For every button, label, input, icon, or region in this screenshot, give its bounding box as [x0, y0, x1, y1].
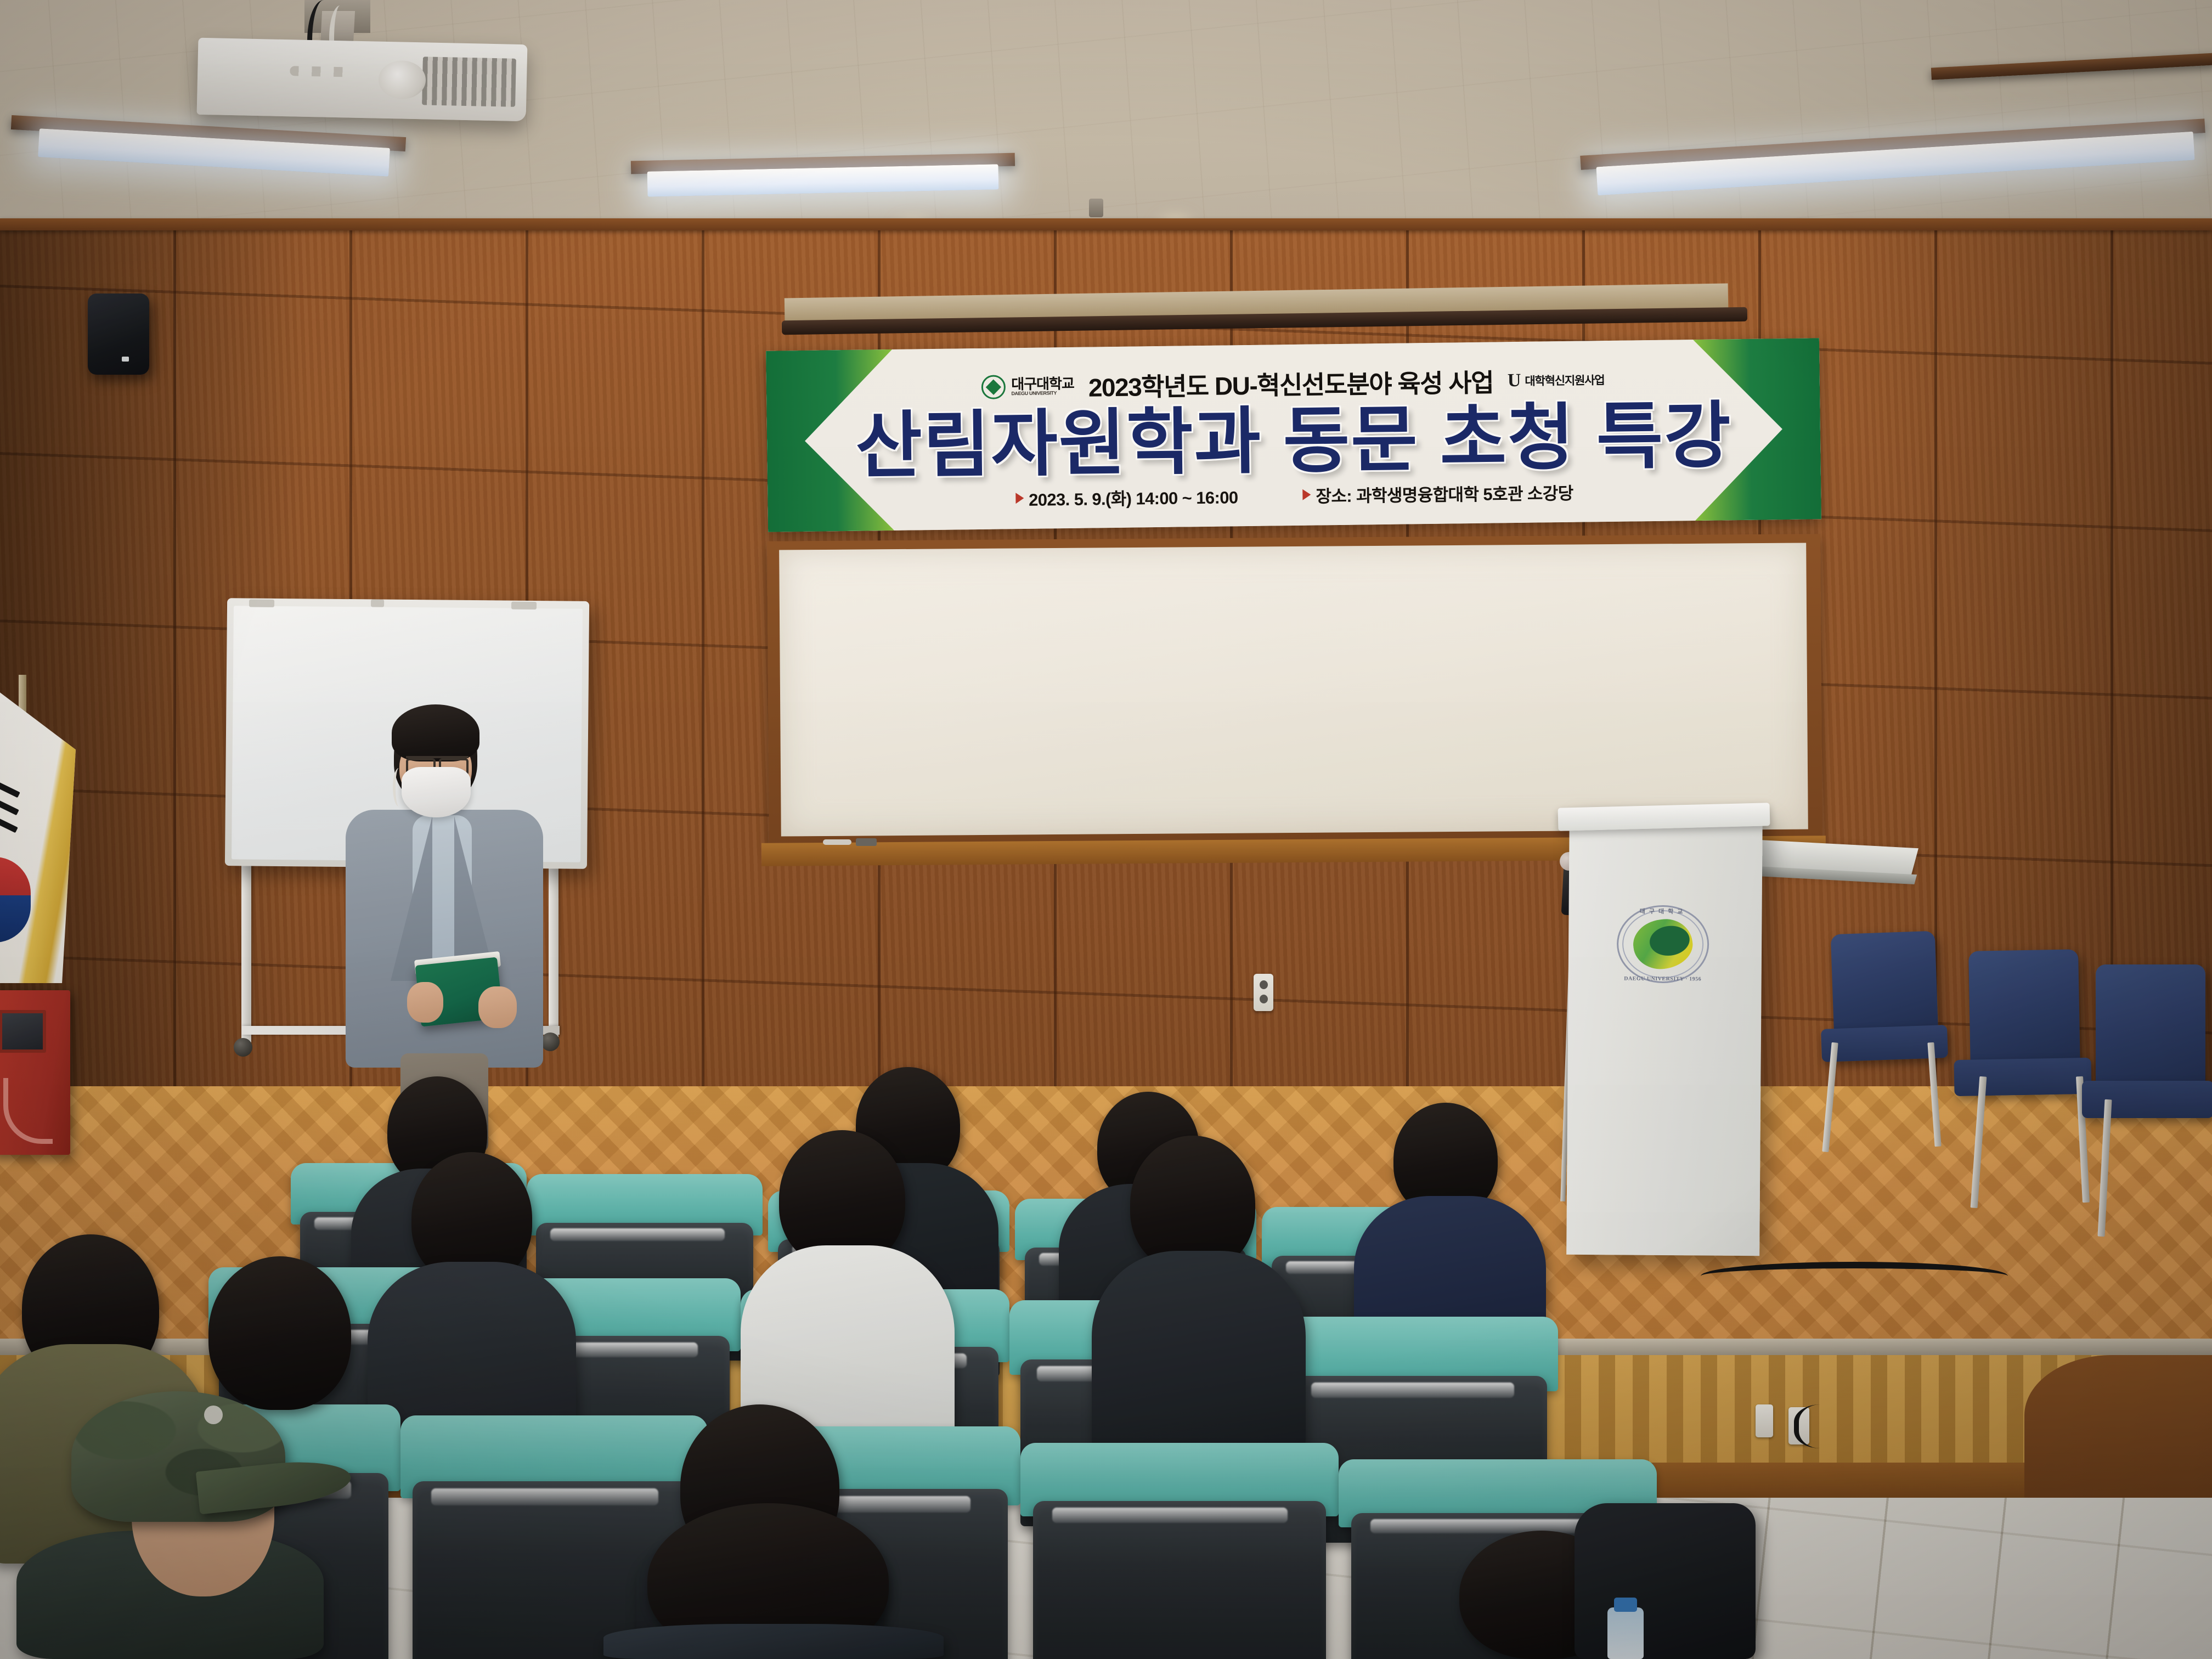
- whiteboard-clip-center: [371, 599, 384, 607]
- seat-gloss-highlight: [431, 1488, 658, 1505]
- wall-upper-trim: [0, 218, 2212, 230]
- banner-subtitle: 2023학년도 DU-혁신선도분야 육성 사업: [1088, 363, 1493, 404]
- pa-speaker-led: [122, 357, 129, 362]
- banner-title: 산림자원학과 동문 초청 특강: [855, 399, 1733, 483]
- whiteboard-caster-left: [234, 1038, 252, 1057]
- seat-gloss-highlight: [1052, 1508, 1288, 1523]
- stacking-chair-back-1[interactable]: [1831, 931, 1939, 1039]
- university-innovation-support-logo: U 대학혁신지원사업: [1508, 371, 1605, 389]
- stage-floor-cable: [1701, 1262, 2008, 1290]
- stacking-chair-seat-2[interactable]: [1954, 1058, 2091, 1096]
- banner-datetime: 2023. 5. 9.(화) 14:00 ~ 16:00: [1029, 483, 1238, 511]
- du-logo-korean: 대구대학교: [1011, 376, 1074, 391]
- uis-logo-mark-icon: U: [1508, 373, 1521, 388]
- pa-speaker: [88, 294, 149, 375]
- banner-datetime-item: 2023. 5. 9.(화) 14:00 ~ 16:00: [1015, 483, 1238, 511]
- seat-row-c-4[interactable]: [1020, 1443, 1339, 1659]
- emblem-korean-text: 대구대학교: [1617, 906, 1709, 916]
- presenter-hair: [392, 704, 479, 761]
- daegu-university-logo-text: 대구대학교 DAEGU UNIVERSITY: [1011, 376, 1074, 396]
- stacking-chair-seat-3[interactable]: [2082, 1081, 2212, 1118]
- presenter-hand-right: [478, 986, 517, 1028]
- whiteboard-clip-right: [511, 602, 537, 610]
- seat-gloss-highlight: [550, 1228, 725, 1241]
- whiteboard-leg-left: [241, 861, 251, 1042]
- water-bottle[interactable]: [1607, 1607, 1644, 1659]
- whiteboard-marker-on-ledge[interactable]: [823, 839, 851, 845]
- projector: [197, 38, 528, 122]
- banner-location: 장소: 과학생명융합대학 5호관 소강당: [1316, 479, 1573, 507]
- face-mask: [402, 767, 471, 817]
- lectern-podium[interactable]: 대구대학교 DAEGU UNIVERSITY · 1956: [1566, 810, 1763, 1256]
- daegu-university-emblem-icon: 대구대학교 DAEGU UNIVERSITY · 1956: [1617, 905, 1709, 983]
- uis-logo-text: 대학혁신지원사업: [1525, 371, 1604, 389]
- seat-gloss-highlight: [1311, 1383, 1514, 1398]
- audience-body-front-center: [603, 1624, 944, 1659]
- stacking-chair-back-2[interactable]: [1968, 949, 2080, 1071]
- audience-body-b3: [1092, 1251, 1306, 1465]
- stacking-chair-back-3[interactable]: [2096, 964, 2205, 1095]
- camouflage-cap-button: [204, 1406, 223, 1424]
- audience-head-c2: [208, 1256, 351, 1410]
- whiteboard-clip-left: [249, 599, 274, 607]
- daegu-university-logo-icon: [981, 375, 1006, 399]
- stage-floor-cable-2: [1794, 1404, 1860, 1448]
- event-banner: 대구대학교 DAEGU UNIVERSITY 2023학년도 DU-혁신선도분야…: [766, 338, 1821, 532]
- arrow-marker-icon: [1015, 493, 1024, 504]
- wall-power-outlet[interactable]: [1254, 974, 1273, 1011]
- projection-screen-frame: [767, 534, 1822, 848]
- seat-backrest: [1033, 1501, 1326, 1659]
- projection-screen-surface: [779, 543, 1808, 836]
- arrow-marker-icon: [1302, 489, 1311, 500]
- banner-meta-row: 2023. 5. 9.(화) 14:00 ~ 16:00 장소: 과학생명융합대…: [1015, 479, 1573, 510]
- seat-gloss-highlight: [1370, 1519, 1606, 1533]
- backpack[interactable]: [1575, 1503, 1756, 1659]
- fire-hose-cabinet[interactable]: [0, 990, 70, 1155]
- whiteboard-eraser-on-ledge[interactable]: [856, 838, 877, 846]
- presenter-hand-left: [407, 982, 443, 1023]
- water-bottle-cap: [1614, 1598, 1637, 1612]
- sprinkler-head: [1089, 199, 1103, 217]
- projector-button-row: [290, 66, 354, 77]
- projector-lens: [378, 60, 426, 100]
- stage-front-switch-plate[interactable]: [1756, 1404, 1773, 1437]
- fire-cabinet-decal: [3, 1078, 53, 1144]
- emblem-english-text: DAEGU UNIVERSITY · 1956: [1617, 975, 1709, 982]
- projector-vent-grille: [422, 57, 516, 107]
- banner-location-item: 장소: 과학생명융합대학 5호관 소강당: [1302, 479, 1573, 507]
- fire-cabinet-window: [0, 1010, 46, 1053]
- auditorium-photo: 대구대학교 DAEGU UNIVERSITY 2023학년도 DU-혁신선도분야…: [0, 0, 2212, 1659]
